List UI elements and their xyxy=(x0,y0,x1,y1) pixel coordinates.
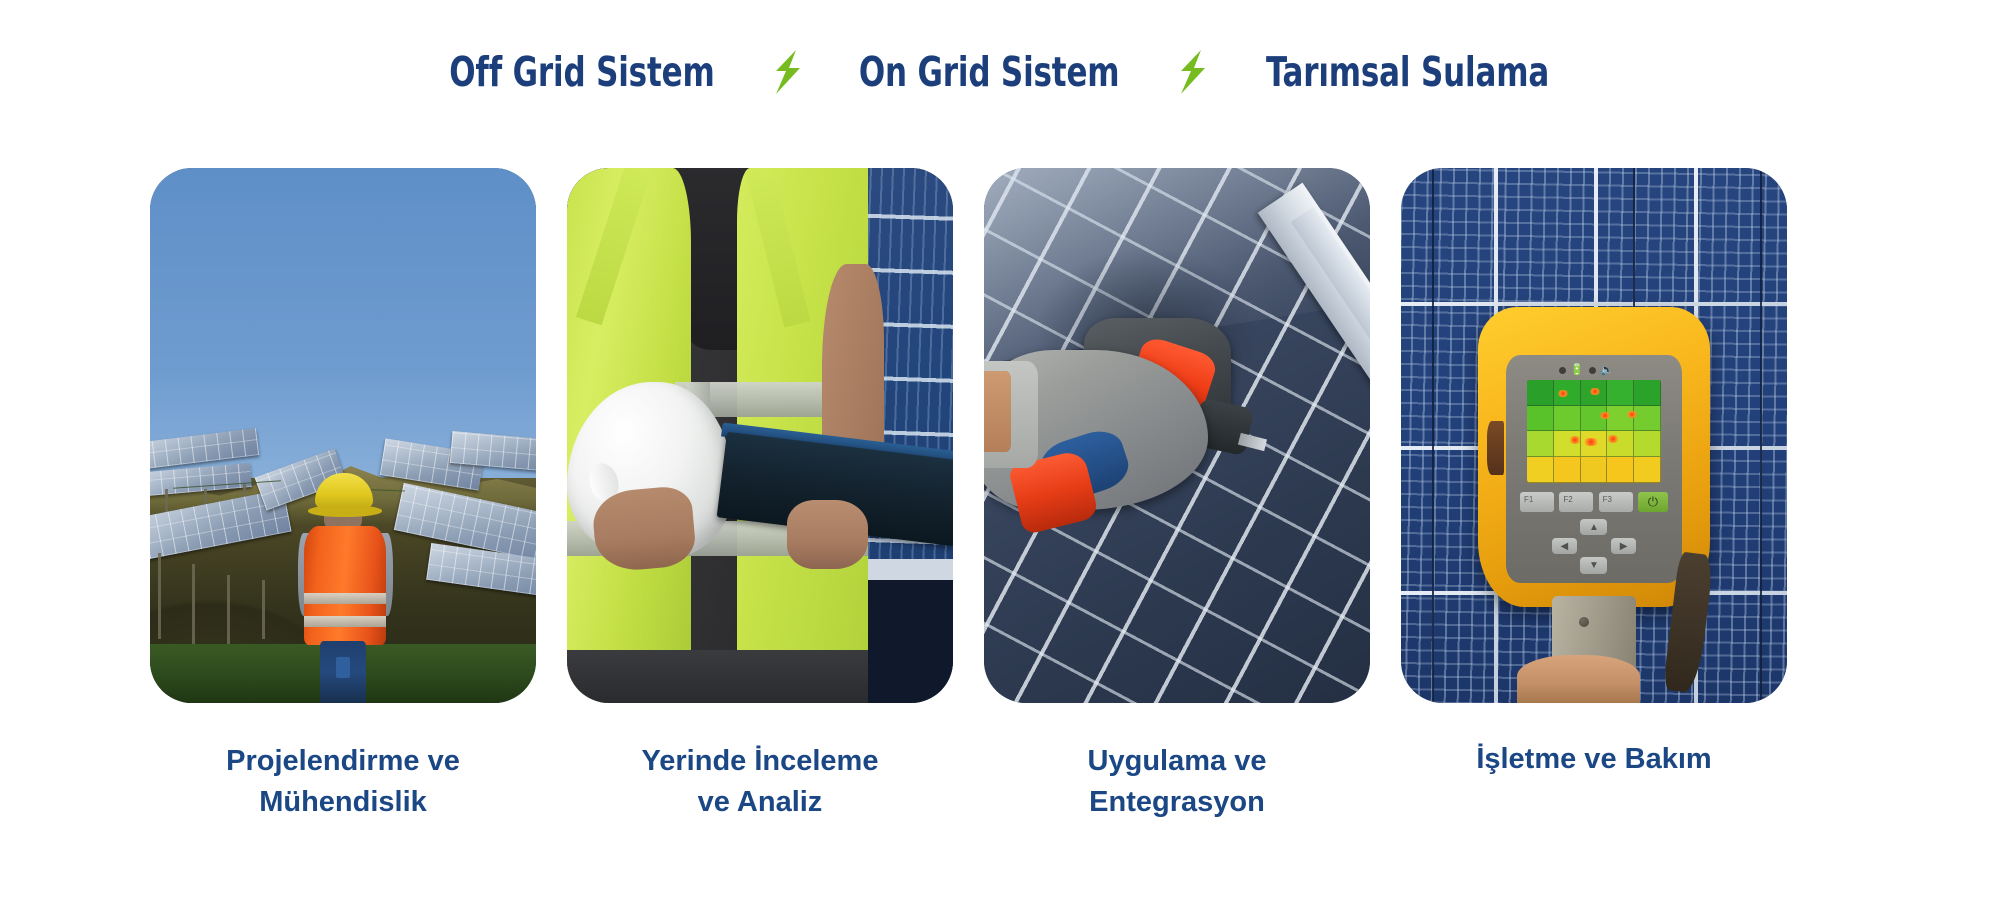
service-card-caption: Yerinde İnceleme ve Analiz xyxy=(567,741,953,823)
f1-button[interactable]: F1 xyxy=(1520,492,1554,512)
site-inspection-engineer-photo[interactable] xyxy=(567,168,953,703)
function-button-row: F1 F2 F3 ⏻ xyxy=(1520,492,1668,512)
header-item-on-grid[interactable]: On Grid Sistem xyxy=(859,48,1120,96)
battery-icon: 🔋 xyxy=(1570,365,1584,376)
operator-hand xyxy=(1517,655,1641,703)
dpad: ▲ ▼ ◀ ▶ xyxy=(1552,519,1637,574)
service-card-caption: Uygulama ve Entegrasyon xyxy=(984,741,1370,823)
header-item-off-grid[interactable]: Off Grid Sistem xyxy=(450,48,715,96)
lightning-bolt-icon xyxy=(770,50,804,94)
indicator-led xyxy=(1559,367,1566,374)
thermal-imaging-camera[interactable]: 🔋 🔈 xyxy=(1478,307,1710,607)
chevron-down-icon[interactable]: ▼ xyxy=(1580,557,1607,573)
service-cards-row: Projelendirme ve Mühendislik xyxy=(150,168,1850,823)
service-card-isletme-bakim[interactable]: 🔋 🔈 xyxy=(1401,168,1787,823)
service-card-yerinde-inceleme[interactable]: Yerinde İnceleme ve Analiz xyxy=(567,168,953,823)
thermal-display-screen xyxy=(1527,380,1661,482)
service-card-caption: İşletme ve Bakım xyxy=(1401,739,1787,780)
thermal-camera-illustration: 🔋 🔈 xyxy=(1401,168,1787,703)
service-types-header: Off Grid Sistem On Grid Sistem Tarımsal … xyxy=(0,44,2000,100)
camera-indicator-row: 🔋 🔈 xyxy=(1559,365,1636,376)
f3-button[interactable]: F3 xyxy=(1599,492,1633,512)
f2-button[interactable]: F2 xyxy=(1559,492,1593,512)
indicator-led xyxy=(1589,367,1596,374)
power-icon[interactable]: ⏻ xyxy=(1638,492,1668,512)
solar-farm-illustration xyxy=(150,168,536,703)
solar-farm-worker-photo[interactable] xyxy=(150,168,536,703)
thermal-camera-inspection-photo[interactable]: 🔋 🔈 xyxy=(1401,168,1787,703)
chevron-left-icon[interactable]: ◀ xyxy=(1552,538,1577,554)
service-card-caption: Projelendirme ve Mühendislik xyxy=(150,741,536,823)
inspector-illustration xyxy=(567,168,953,703)
panel-installation-drill-photo[interactable] xyxy=(984,168,1370,703)
lightning-bolt-icon xyxy=(1175,50,1209,94)
chevron-up-icon[interactable]: ▲ xyxy=(1580,519,1607,535)
header-item-tarimsal-sulama[interactable]: Tarımsal Sulama xyxy=(1266,48,1549,96)
chevron-right-icon[interactable]: ▶ xyxy=(1611,538,1636,554)
service-card-projelendirme[interactable]: Projelendirme ve Mühendislik xyxy=(150,168,536,823)
drill-installation-illustration xyxy=(984,168,1370,703)
field-worker-figure xyxy=(301,473,390,703)
service-card-uygulama[interactable]: Uygulama ve Entegrasyon xyxy=(984,168,1370,823)
speaker-icon: 🔈 xyxy=(1600,365,1614,376)
